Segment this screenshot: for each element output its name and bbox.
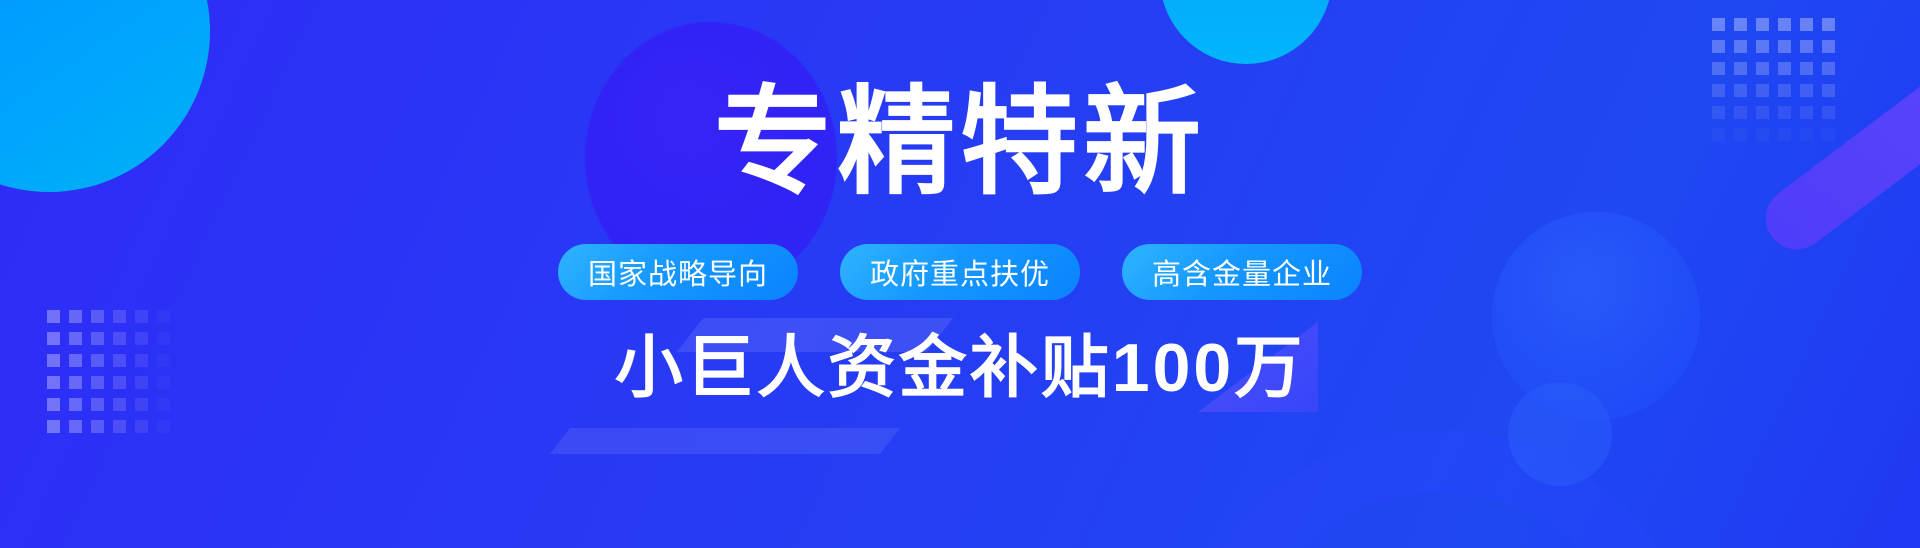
banner-headline: 专精特新 bbox=[714, 84, 1206, 202]
feature-pill-row: 国家战略导向 政府重点扶优 高含金量企业 bbox=[558, 244, 1362, 300]
feature-pill-1[interactable]: 国家战略导向 bbox=[558, 244, 798, 300]
feature-pill-3[interactable]: 高含金量企业 bbox=[1122, 244, 1362, 300]
feature-pill-3-label: 高含金量企业 bbox=[1152, 251, 1332, 293]
promo-banner: 专精特新 国家战略导向 政府重点扶优 高含金量企业 小巨人资金补贴100万 bbox=[0, 0, 1920, 548]
feature-pill-2-label: 政府重点扶优 bbox=[870, 251, 1050, 293]
banner-subline: 小巨人资金补贴100万 bbox=[615, 334, 1305, 402]
banner-content: 专精特新 国家战略导向 政府重点扶优 高含金量企业 小巨人资金补贴100万 bbox=[0, 0, 1920, 548]
feature-pill-1-label: 国家战略导向 bbox=[588, 251, 768, 293]
feature-pill-2[interactable]: 政府重点扶优 bbox=[840, 244, 1080, 300]
